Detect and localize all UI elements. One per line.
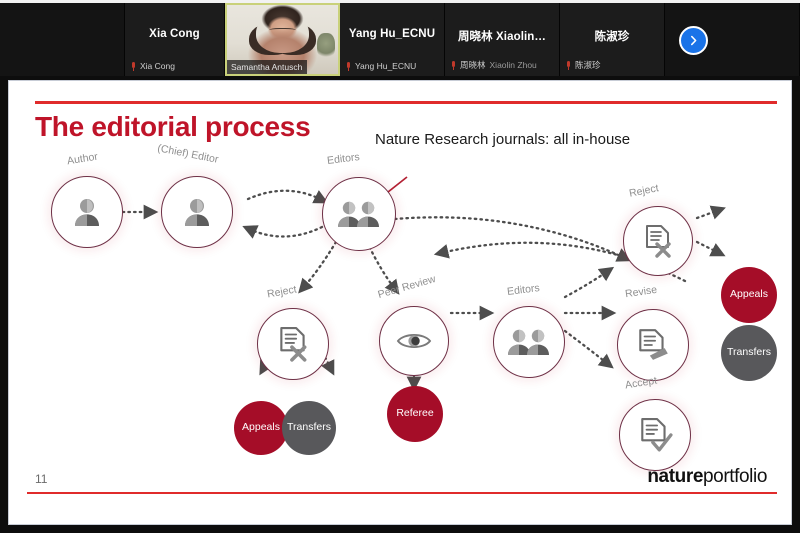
document-x-icon	[275, 326, 311, 362]
endpoint-transfers-mid[interactable]: Transfers	[282, 401, 336, 455]
participant-footer: Yang Hu_ECNU	[346, 61, 416, 71]
logo-nature: nature	[647, 466, 703, 487]
document-pen-icon	[635, 328, 671, 362]
label-revise: Revise	[624, 284, 657, 300]
participant-footer-name: Yang Hu_ECNU	[355, 61, 416, 71]
participant-tile[interactable]: Samantha Antusch	[225, 3, 340, 76]
participant-tile-empty[interactable]	[0, 3, 125, 76]
participant-footer-name: 陈淑珍	[575, 59, 601, 71]
participant-tile[interactable]: Xia CongXia Cong	[125, 3, 225, 76]
microphone-icon	[346, 62, 351, 71]
participant-display-name: 周晓林 Xiaolin…	[445, 28, 559, 44]
participant-footer: Xia Cong	[131, 61, 175, 71]
endpoint-referee[interactable]: Referee	[387, 386, 443, 442]
person-icon	[180, 197, 214, 227]
participant-tile[interactable]: Yang Hu_ECNUYang Hu_ECNU	[340, 3, 445, 76]
endpoint-label: Referee	[396, 408, 433, 419]
node-editors-mid[interactable]	[493, 306, 565, 378]
participant-display-name: Yang Hu_ECNU	[340, 28, 444, 40]
person-icon	[70, 197, 104, 227]
endpoint-label: Appeals	[242, 422, 280, 433]
chevron-right-icon	[687, 34, 700, 47]
microphone-icon	[131, 62, 136, 71]
microphone-icon	[451, 61, 456, 70]
participant-footer-name: Xia Cong	[140, 61, 175, 71]
node-editors-top[interactable]	[322, 177, 396, 251]
node-revise[interactable]	[617, 309, 689, 381]
label-author: Author	[66, 151, 98, 168]
filmstrip-next-button[interactable]	[679, 26, 708, 55]
endpoint-appeals-right[interactable]: Appeals	[721, 267, 777, 323]
node-accept[interactable]	[619, 399, 691, 471]
participant-footer-alias: Xiaolin Zhou	[490, 60, 537, 70]
participant-filmstrip: Xia CongXia CongSamantha AntuschYang Hu_…	[0, 0, 800, 76]
participant-tile[interactable]: 周晓林 Xiaolin…周晓林Xiaolin Zhou	[445, 3, 560, 76]
slide-bottom-rule	[27, 492, 777, 495]
endpoint-label: Transfers	[287, 422, 331, 433]
people-group-icon	[336, 200, 382, 228]
eye-icon	[396, 330, 432, 352]
label-reject-mid: Reject	[266, 284, 297, 301]
microphone-icon	[566, 61, 571, 70]
logo-portfolio: portfolio	[703, 466, 767, 487]
node-author[interactable]	[51, 176, 123, 248]
node-peer-review[interactable]	[379, 306, 449, 376]
participant-footer-name: 周晓林	[460, 59, 486, 71]
node-reject-mid[interactable]	[257, 308, 329, 380]
nature-portfolio-logo: natureportfolio	[647, 466, 767, 488]
endpoint-transfers-right[interactable]: Transfers	[721, 325, 777, 381]
presentation-slide: The editorial process Nature Research jo…	[8, 80, 792, 525]
endpoint-label: Transfers	[727, 347, 771, 358]
endpoint-label: Appeals	[730, 289, 768, 300]
participant-display-name: Xia Cong	[125, 28, 224, 40]
node-chief-editor[interactable]	[161, 176, 233, 248]
background-plant	[317, 33, 335, 59]
participant-display-name: 陈淑珍	[560, 28, 664, 44]
editorial-process-diagram: Author (Chief) Editor	[9, 81, 792, 525]
label-peer-review: Peer Review	[376, 273, 437, 301]
label-chief-editor: (Chief) Editor	[156, 142, 219, 166]
people-group-icon	[506, 328, 552, 356]
label-reject-right: Reject	[628, 182, 660, 199]
participant-footer: 周晓林Xiaolin Zhou	[451, 59, 537, 71]
document-x-icon	[641, 224, 675, 258]
participant-footer: 陈淑珍	[566, 59, 601, 71]
node-reject-right[interactable]	[623, 206, 693, 276]
label-editors-mid: Editors	[506, 282, 540, 298]
document-check-icon	[637, 417, 673, 453]
slide-page-number: 11	[35, 472, 47, 486]
video-name-label: Samantha Antusch	[227, 60, 307, 74]
zoom-screen-share-window: Xia CongXia CongSamantha AntuschYang Hu_…	[0, 0, 800, 533]
participant-tile[interactable]: 陈淑珍陈淑珍	[560, 3, 665, 76]
label-editors-top: Editors	[326, 151, 360, 167]
endpoint-appeals-mid[interactable]: Appeals	[234, 401, 288, 455]
